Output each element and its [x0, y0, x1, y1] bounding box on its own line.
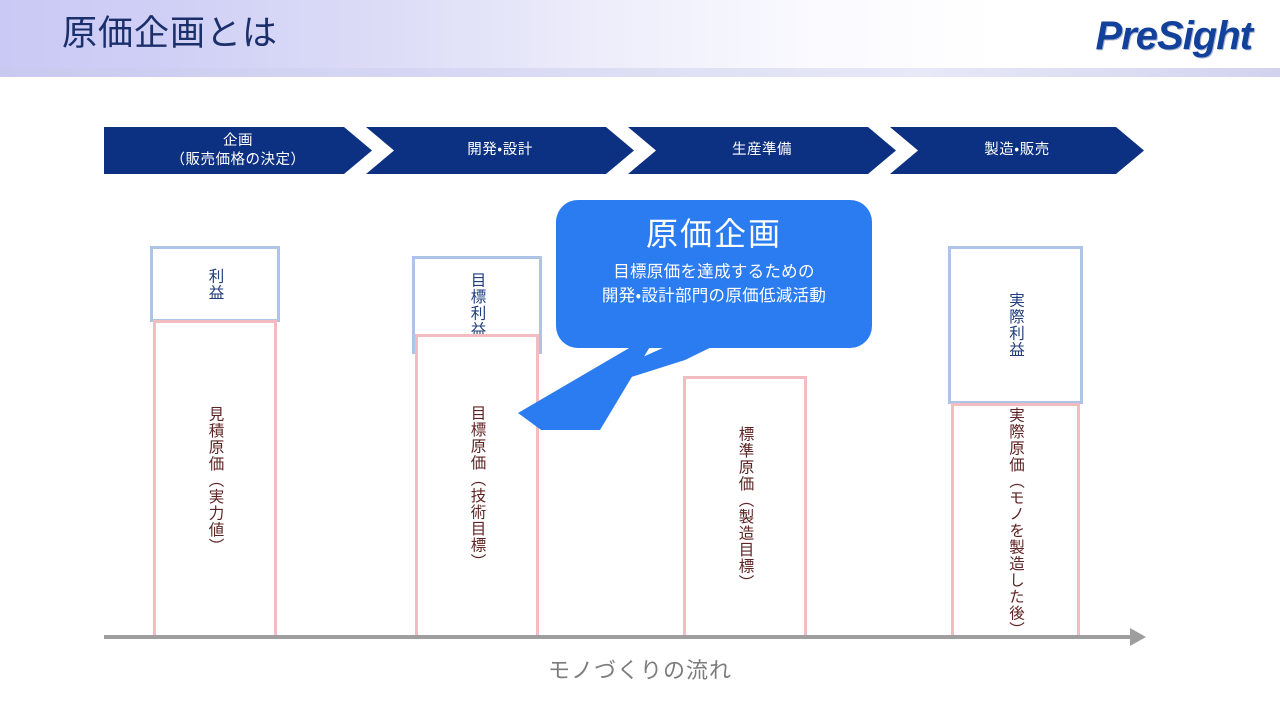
flow-axis-label: モノづくりの流れ: [0, 653, 1280, 685]
profit-box-actual[interactable]: 実際利益: [948, 246, 1083, 404]
flow-axis-line: [104, 635, 1136, 639]
page-title: 原価企画とは: [62, 11, 278, 57]
cost-box-standard[interactable]: 標準原価（製造目標）: [683, 376, 807, 638]
process-step-development-label: 開発・設計: [449, 141, 550, 160]
process-step-production-prep-label: 生産準備: [714, 141, 810, 160]
cost-box-estimated-label: 見積原価（実力値）: [205, 406, 226, 555]
slide-root: 原価企画とは PreSight 企画 （販売価格の決定） 開発・設計 生産準備 …: [0, 0, 1280, 720]
cost-box-target[interactable]: 目標原価（技術目標）: [415, 334, 539, 638]
header-underline: [0, 68, 1280, 77]
callout-balloon[interactable]: 原価企画 目標原価を達成するための 開発・設計部門の原価低減活動: [556, 200, 872, 348]
callout-body: 目標原価を達成するための 開発・設計部門の原価低減活動: [602, 260, 826, 308]
process-step-manufacture-sales[interactable]: 製造・販売: [890, 127, 1144, 174]
cost-box-estimated[interactable]: 見積原価（実力値）: [153, 320, 277, 638]
profit-box-target-label: 目標利益: [467, 272, 488, 338]
process-step-production-prep[interactable]: 生産準備: [628, 127, 896, 174]
profit-box-actual-label: 実際利益: [1005, 292, 1026, 358]
callout-title: 原価企画: [646, 214, 782, 254]
process-step-planning-label: 企画 （販売価格の決定）: [153, 132, 324, 170]
process-step-planning[interactable]: 企画 （販売価格の決定）: [104, 127, 372, 174]
cost-box-actual[interactable]: 実際原価（モノを製造した後）: [951, 403, 1080, 638]
profit-box-planning-label: 利益: [205, 268, 226, 301]
cost-box-target-label: 目標原価（技術目標）: [467, 405, 488, 570]
process-step-development[interactable]: 開発・設計: [366, 127, 634, 174]
brand-logo: PreSight: [1096, 14, 1252, 58]
cost-structure-chart: 利益 見積原価（実力値） 目標利益 目標原価（技術目標） 標準原価（製造目標） …: [0, 0, 1280, 720]
profit-box-planning[interactable]: 利益: [150, 246, 280, 322]
cost-box-standard-label: 標準原価（製造目標）: [735, 426, 756, 591]
process-chevron-bar: 企画 （販売価格の決定） 開発・設計 生産準備 製造・販売: [104, 127, 1144, 174]
process-step-manufacture-sales-label: 製造・販売: [966, 141, 1067, 160]
cost-box-actual-label: 実際原価（モノを製造した後）: [1005, 407, 1026, 638]
flow-axis-arrow-icon: [1130, 628, 1146, 646]
